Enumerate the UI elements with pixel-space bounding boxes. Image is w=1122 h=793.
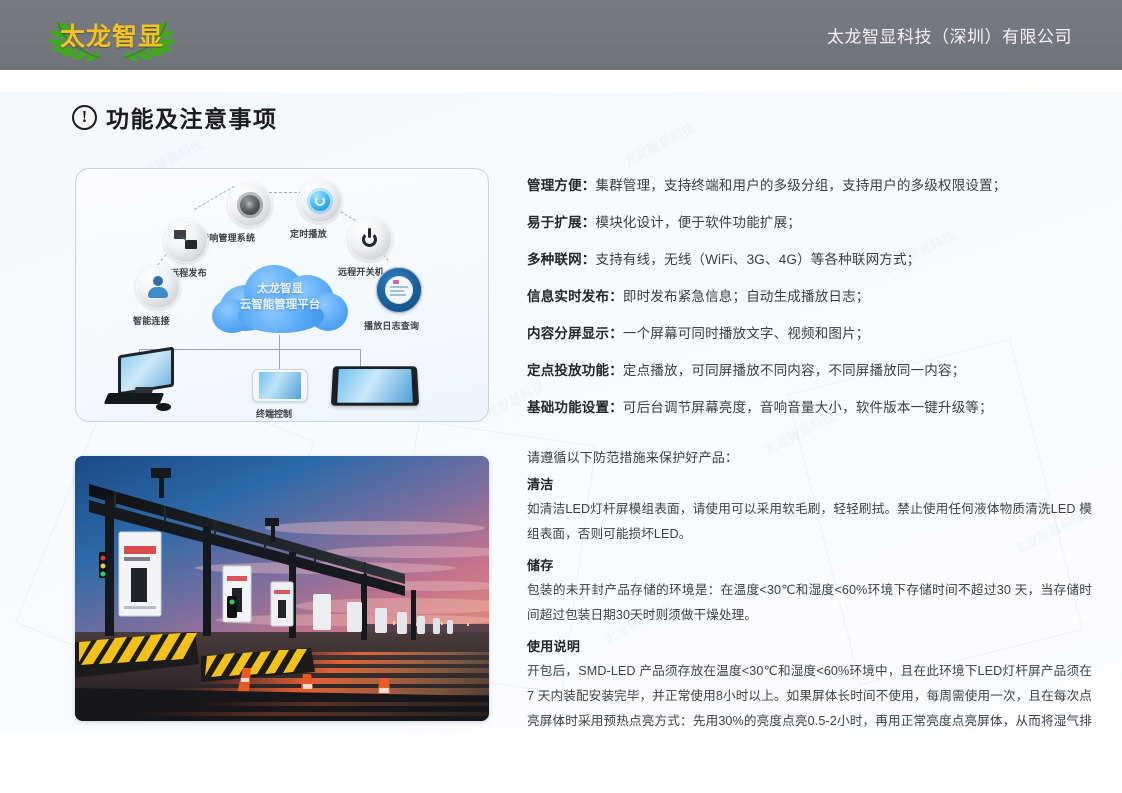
feature-label: 定点投放功能：: [527, 363, 623, 378]
feature-label: 基础功能设置：: [527, 400, 623, 415]
diagram-node-scheduled-play[interactable]: [298, 179, 342, 223]
device-smartphone[interactable]: [252, 369, 308, 405]
diagram-node-label: 播放日志查询: [364, 319, 419, 332]
cloud-platform-label: 太龙智显 云智能管理平台: [212, 281, 348, 313]
diagram-node-remote-power[interactable]: [348, 217, 392, 261]
exclamation-circle-icon: !: [72, 105, 97, 130]
cloud-platform-line1: 太龙智显: [212, 281, 348, 297]
diagram-node-audio-management[interactable]: [228, 183, 272, 227]
feature-item: 管理方便：集群管理，支持终端和用户的多级分组，支持用户的多级权限设置；: [527, 176, 1092, 196]
device-label: 终端控制: [256, 407, 292, 420]
diagram-node-play-log-query[interactable]: [376, 267, 422, 313]
user-connect-icon: [145, 274, 171, 300]
device-tablet[interactable]: [332, 365, 418, 409]
header-divider-gap: [0, 70, 1122, 92]
feature-item: 易于扩展：模块化设计，便于软件功能扩展；: [527, 213, 1092, 233]
page-footer-space: [0, 731, 1122, 793]
company-name: 太龙智显科技（深圳）有限公司: [827, 23, 1072, 48]
photo-illustration: [75, 456, 489, 721]
page-header: 太龙智显 太龙智显科技（深圳）有限公司: [0, 0, 1122, 70]
note-body-usage: 开包后，SMD-LED 产品须存放在温度<30℃和湿度<60%环境中，且在此环境…: [527, 659, 1092, 731]
feature-text: 一个屏幕可同时播放文字、视频和图片；: [623, 326, 870, 341]
diagram-connector: [279, 335, 280, 349]
diagram-node-label: 智能连接: [133, 314, 170, 327]
feature-label: 信息实时发布：: [527, 289, 623, 304]
toll-plaza-led-pole-screens-photo: [75, 456, 489, 721]
note-heading-cleaning: 清洁: [527, 474, 1092, 493]
note-heading-storage: 储存: [527, 555, 1092, 574]
diagram-node-label: 音响管理系统: [200, 231, 255, 244]
device-desktop-computer[interactable]: [104, 351, 180, 413]
feature-label: 内容分屏显示：: [527, 326, 623, 341]
watermark: 太龙智显科技: [620, 117, 698, 169]
note-heading-usage: 使用说明: [527, 636, 1092, 655]
note-body-storage: 包装的未开封产品存储的环境是：在温度<30℃和湿度<60%环境下存储时间不超过3…: [527, 578, 1092, 628]
feature-label: 多种联网：: [527, 252, 596, 267]
diagram-node-remote-publish[interactable]: [164, 219, 208, 263]
feature-list: 管理方便：集群管理，支持终端和用户的多级分组，支持用户的多级权限设置； 易于扩展…: [527, 176, 1092, 435]
feature-item: 多种联网：支持有线，无线（WiFi、3G、4G）等各种联网方式；: [527, 250, 1092, 270]
cloud-platform-line2: 云智能管理平台: [212, 297, 348, 313]
feature-label: 管理方便：: [527, 178, 596, 193]
feature-text: 支持有线，无线（WiFi、3G、4G）等各种联网方式；: [596, 252, 921, 267]
note-body-cleaning: 如清洁LED灯杆屏模组表面，请使用可以采用软毛刷，轻轻刷拭。禁止使用任何液体物质…: [527, 497, 1092, 547]
brand-logo: 太龙智显: [28, 8, 196, 62]
feature-text: 集群管理，支持终端和用户的多级分组，支持用户的多级权限设置；: [596, 178, 1007, 193]
smartphone-icon: [252, 369, 308, 402]
feature-item: 内容分屏显示：一个屏幕可同时播放文字、视频和图片；: [527, 324, 1092, 344]
notes-lead-text: 请遵循以下防范措施来保护好产品：: [527, 447, 1092, 466]
power-icon: [357, 226, 383, 252]
page-title: ! 功能及注意事项: [72, 100, 278, 134]
feature-item: 基础功能设置：可后台调节屏幕亮度，音响音量大小，软件版本一键升级等；: [527, 398, 1092, 418]
feature-item: 定点投放功能：定点播放，可同屏播放不同内容，不同屏播放同一内容；: [527, 361, 1092, 381]
feature-label: 易于扩展：: [527, 215, 596, 230]
cloud-platform-node[interactable]: 太龙智显 云智能管理平台: [212, 259, 348, 335]
speaker-icon: [237, 192, 263, 218]
precaution-notes: 请遵循以下防范措施来保护好产品： 清洁 如清洁LED灯杆屏模组表面，请使用可以采…: [527, 447, 1092, 731]
donut-chart-icon: [385, 276, 413, 304]
feature-text: 可后台调节屏幕亮度，音响音量大小，软件版本一键升级等；: [623, 400, 993, 415]
tablet-icon: [331, 366, 419, 405]
brand-logo-text: 太龙智显: [60, 17, 164, 53]
page-title-text: 功能及注意事项: [106, 100, 278, 134]
timer-icon: [307, 188, 333, 214]
network-publish-icon: [173, 228, 199, 254]
feature-item: 信息实时发布：即时发布紧急信息；自动生成播放日志；: [527, 287, 1092, 307]
platform-architecture-diagram: 音响管理系统 定时播放 远程发布 远程开关机: [75, 168, 489, 422]
page-body: 太龙智显科技 太龙智显科技 太龙智显科技 太龙智显科技 太龙智显科技 太龙智显科…: [0, 92, 1122, 731]
diagram-node-label: 定时播放: [290, 227, 327, 240]
feature-text: 定点播放，可同屏播放不同内容，不同屏播放同一内容；: [623, 363, 966, 378]
feature-text: 即时发布紧急信息；自动生成播放日志；: [623, 289, 870, 304]
feature-text: 模块化设计，便于软件功能扩展；: [596, 215, 802, 230]
diagram-node-smart-connect[interactable]: [136, 265, 180, 309]
